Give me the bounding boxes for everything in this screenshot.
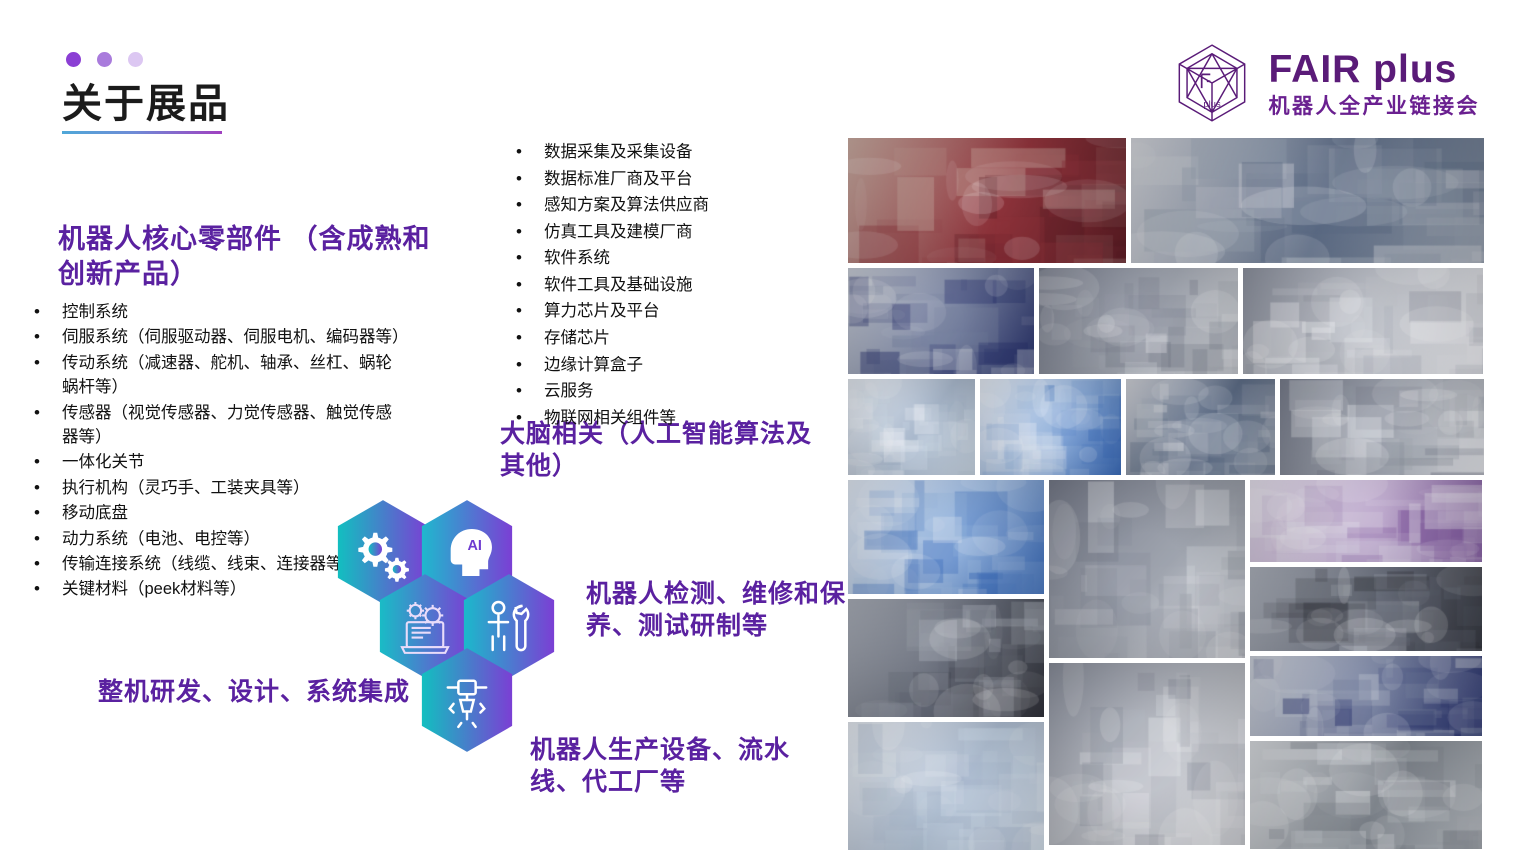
actuator-modules-photo <box>1250 741 1482 849</box>
robot-piano-photo <box>1250 567 1482 651</box>
photo-canvas <box>1049 663 1245 845</box>
photo-row-2 <box>848 268 1484 374</box>
booth-visitors-photo <box>848 268 1034 374</box>
dot-1 <box>66 52 81 67</box>
dot-3 <box>128 52 143 67</box>
list-brain-related: 数据采集及采集设备数据标准厂商及平台感知方案及算法供应商仿真工具及建模厂商软件系… <box>508 140 808 432</box>
list-item: 数据采集及采集设备 <box>508 140 808 166</box>
ai-booth-crowd-photo <box>848 480 1044 594</box>
robot-arm-demo-photo <box>848 722 1044 850</box>
robotic-hand-photo <box>848 379 975 475</box>
hexagon-robot-arm <box>419 646 515 754</box>
svg-text:plus: plus <box>1203 99 1221 110</box>
robot-arm-booth-photo <box>1280 379 1484 475</box>
photo-column-right <box>1250 480 1482 850</box>
robot-showcase-photo <box>1039 268 1238 374</box>
motor-booth-photo <box>1250 656 1482 736</box>
photo-row-1 <box>848 138 1484 263</box>
list-item: 控制系统 <box>26 300 406 324</box>
title-underline <box>62 131 222 134</box>
slide-root: 关于展品 plus FAIR plus 机器人全产业链接会 机器人核心零部件 （… <box>0 0 1538 865</box>
exoskeleton-demo-photo <box>848 599 1044 717</box>
exhibition-crowd-photo <box>1131 138 1484 263</box>
exhibition-visitors-photo <box>1126 379 1275 475</box>
list-item: 边缘计算盒子 <box>508 353 808 379</box>
list-item: 传感器（视觉传感器、力觉传感器、触觉传感器等） <box>26 401 406 450</box>
photo-canvas <box>848 599 1044 717</box>
list-item: 感知方案及算法供应商 <box>508 193 808 219</box>
photo-canvas <box>1250 741 1482 849</box>
photo-canvas <box>1250 567 1482 651</box>
hexagon-logo-icon: plus <box>1169 40 1255 126</box>
dot-2 <box>97 52 112 67</box>
list-item: 伺服系统（伺服驱动器、伺服电机、编码器等） <box>26 325 406 349</box>
hexagon-cluster: AI <box>335 498 570 753</box>
brand-name: FAIR plus <box>1269 50 1481 89</box>
decorative-dots <box>66 52 143 67</box>
list-item: 物联网相关组件等 <box>508 406 808 432</box>
photo-canvas <box>1049 480 1245 658</box>
photo-grid <box>848 138 1484 850</box>
photo-column-left <box>848 480 1044 850</box>
photo-canvas <box>1126 379 1275 475</box>
list-item: 算力芯片及平台 <box>508 299 808 325</box>
photo-canvas <box>1280 379 1484 475</box>
photo-canvas <box>848 268 1034 374</box>
photo-canvas <box>1250 480 1482 562</box>
heading-production: 机器人生产设备、流水线、代工厂等 <box>530 734 830 798</box>
photo-column-center <box>1049 480 1245 850</box>
list-item: 传动系统（减速器、舵机、轴承、丝杠、蜗轮蜗杆等） <box>26 351 406 400</box>
heading-core-components: 机器人核心零部件 （含成熟和创新产品） <box>58 222 458 291</box>
photo-canvas <box>848 138 1126 263</box>
humanoid-robot-suspended-photo <box>1049 480 1245 658</box>
list-item: 执行机构（灵巧手、工装夹具等） <box>26 476 406 500</box>
photo-canvas <box>1131 138 1484 263</box>
robot-arm-go-board-photo <box>1243 268 1483 374</box>
ai-label: AI <box>467 538 481 554</box>
booth-display-photo <box>980 379 1121 475</box>
list-item: 软件工具及基础设施 <box>508 273 808 299</box>
list-item: 数据标准厂商及平台 <box>508 167 808 193</box>
photo-row-bottom <box>848 480 1484 850</box>
photo-canvas <box>1243 268 1483 374</box>
photo-canvas <box>848 379 975 475</box>
photo-canvas <box>1250 656 1482 736</box>
heading-maintenance: 机器人检测、维修和保养、测试研制等 <box>586 578 856 642</box>
robot-dog-photo <box>1250 480 1482 562</box>
photo-canvas <box>980 379 1121 475</box>
photo-canvas <box>848 480 1044 594</box>
list-item: 云服务 <box>508 379 808 405</box>
list-item: 软件系统 <box>508 246 808 272</box>
photo-canvas <box>1039 268 1238 374</box>
list-item: 仿真工具及建模厂商 <box>508 220 808 246</box>
page-title: 关于展品 <box>62 82 230 126</box>
list-item: 存储芯片 <box>508 326 808 352</box>
unitree-humanoid-robot-photo <box>1049 663 1245 845</box>
humanoid-robot-face-photo <box>848 138 1126 263</box>
brand-subtitle: 机器人全产业链接会 <box>1269 96 1481 117</box>
list-item: 一体化关节 <box>26 450 406 474</box>
brand-logo: plus FAIR plus 机器人全产业链接会 <box>1169 40 1481 126</box>
photo-canvas <box>848 722 1044 850</box>
photo-row-3 <box>848 379 1484 475</box>
